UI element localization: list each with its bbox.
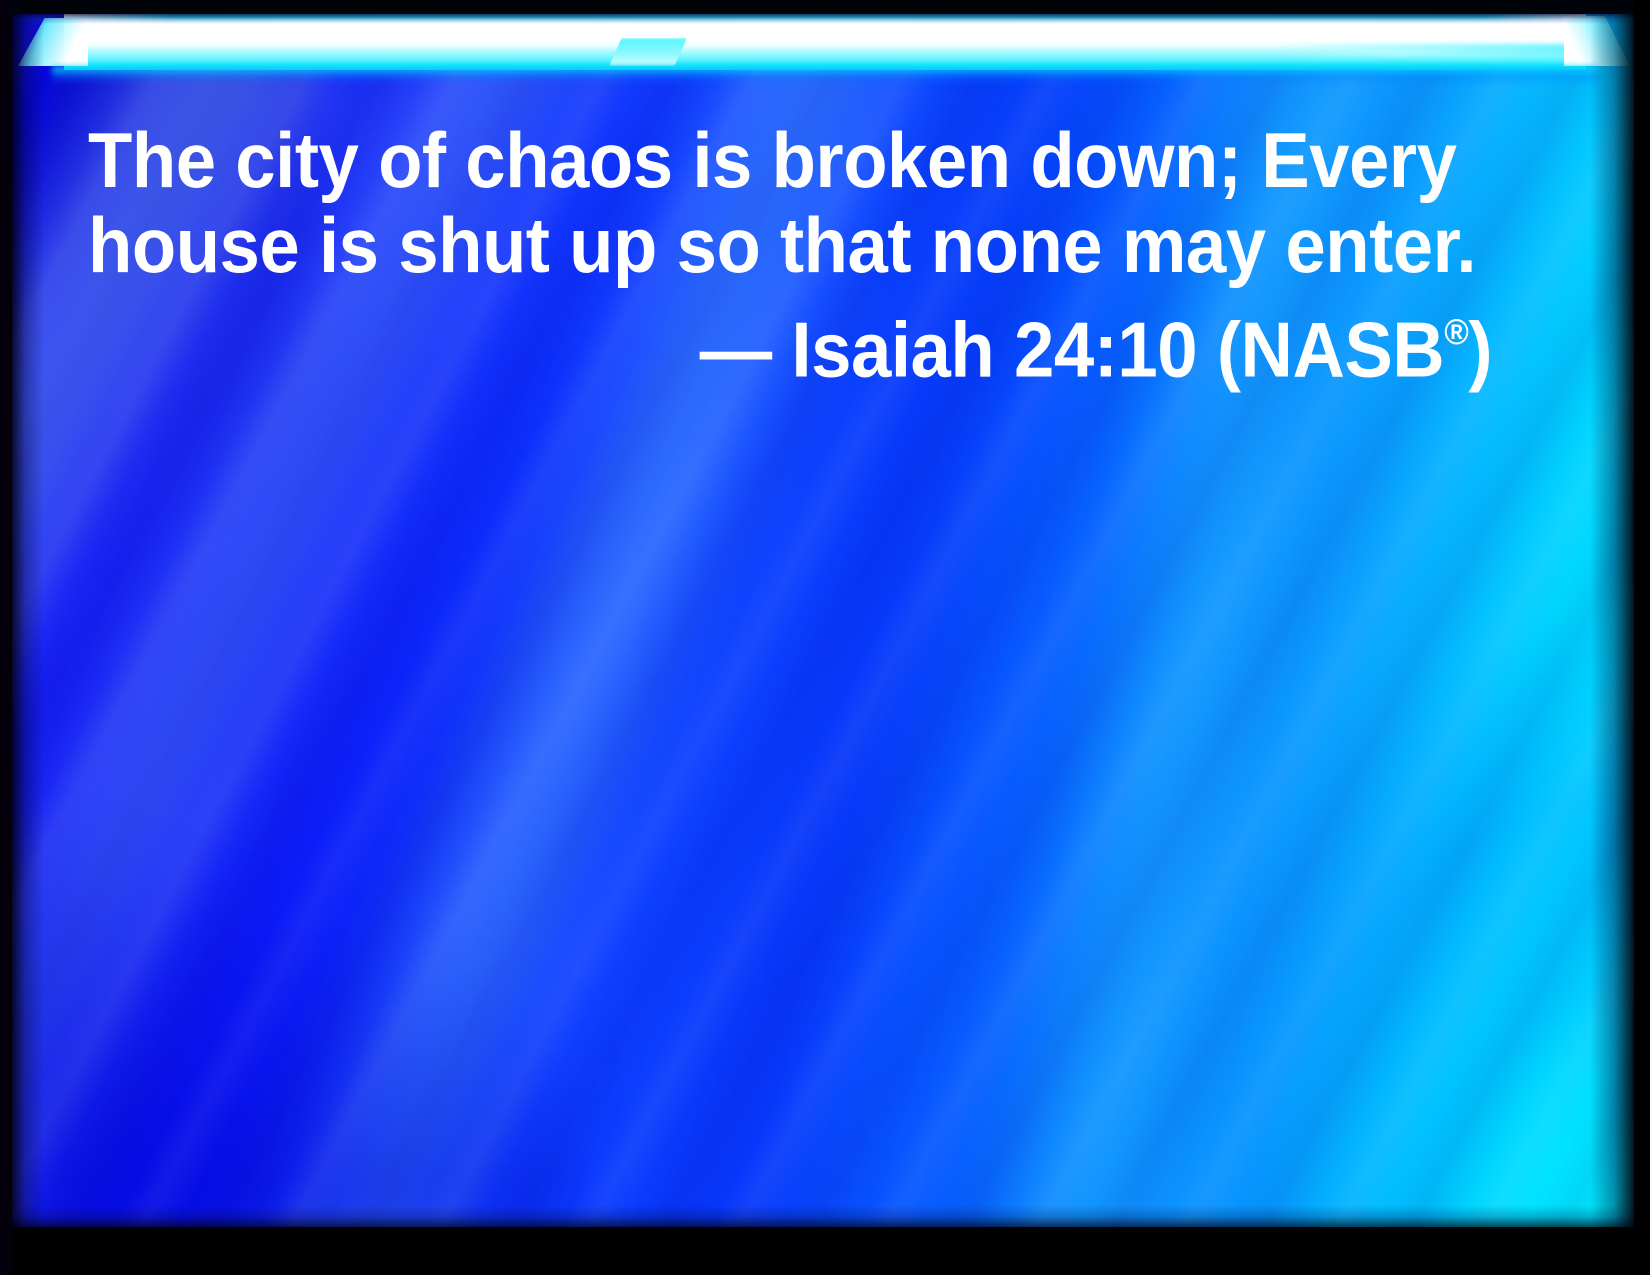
frame-border-bottom xyxy=(0,1227,1650,1275)
registered-trademark-icon: ® xyxy=(1444,312,1468,352)
verse-slide: The city of chaos is broken down; Every … xyxy=(0,0,1650,1275)
verse-attribution: — Isaiah 24:10 (NASB®) xyxy=(88,288,1500,393)
verse-line-1: The city of chaos is broken down; Every xyxy=(88,118,1401,203)
attribution-dash: — xyxy=(700,305,772,393)
verse-text-block: The city of chaos is broken down; Every … xyxy=(0,0,1650,393)
attribution-translation-close: ) xyxy=(1468,305,1492,393)
edge-feather-right xyxy=(1590,0,1636,1275)
frame-border-top xyxy=(0,0,1650,14)
frame-border-left xyxy=(0,0,12,1275)
frame-border-right xyxy=(1634,0,1650,1275)
edge-feather-left xyxy=(10,0,44,1275)
attribution-reference: Isaiah 24:10 xyxy=(791,305,1197,393)
attribution-translation-open: (NASB xyxy=(1217,305,1444,393)
verse-line-2: house is shut up so that none may enter. xyxy=(88,203,1401,288)
